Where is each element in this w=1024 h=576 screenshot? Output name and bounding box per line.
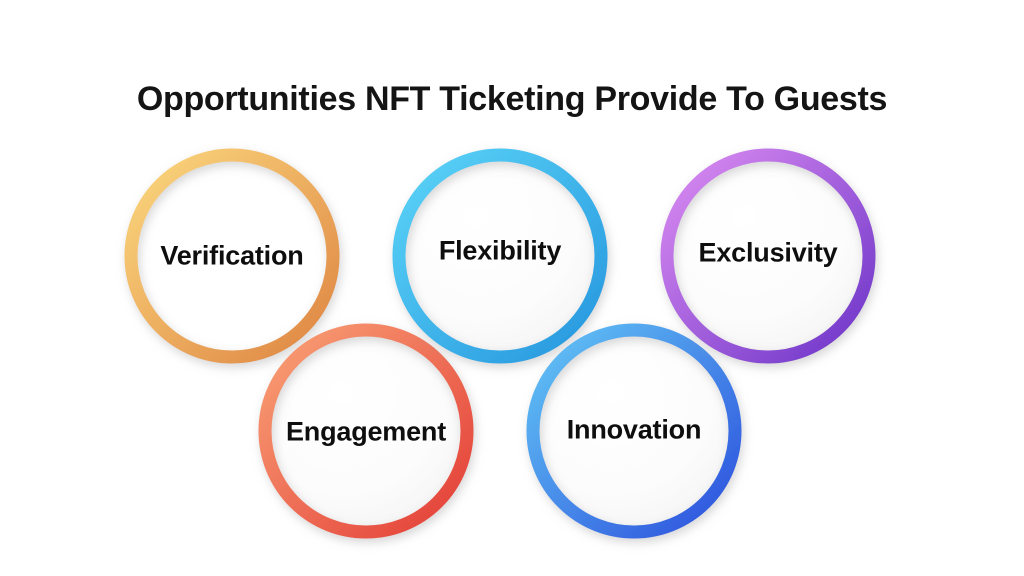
ring-verification[interactable] <box>131 155 333 357</box>
interlocking-rings-diagram <box>0 0 1024 576</box>
occluder-noop <box>138 162 326 350</box>
ring-flexibility[interactable] <box>399 155 601 357</box>
ring-innovation[interactable] <box>533 330 735 532</box>
ring-engagement[interactable] <box>265 330 467 532</box>
ring-overlap-occluders <box>138 162 326 350</box>
infographic-canvas: Opportunities NFT Ticketing Provide To G… <box>0 0 1024 576</box>
ring-exclusivity[interactable] <box>667 155 869 357</box>
ring-verification-stroke <box>131 155 333 357</box>
